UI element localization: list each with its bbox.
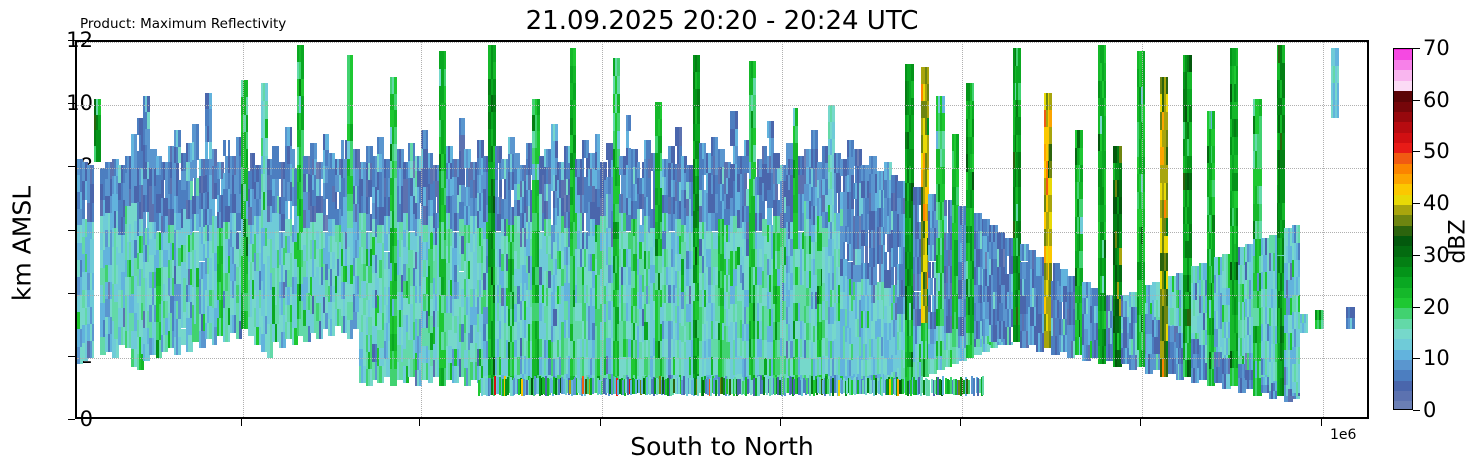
reflectivity-cell <box>265 119 268 137</box>
reflectivity-cell <box>753 128 756 145</box>
reflectivity-cell <box>277 179 280 196</box>
reflectivity-cell <box>350 55 353 72</box>
reflectivity-cell <box>861 246 864 262</box>
reflectivity-cell <box>196 124 199 142</box>
reflectivity-cell <box>660 136 663 153</box>
reflectivity-cell <box>323 199 326 215</box>
reflectivity-cell <box>209 126 212 143</box>
reflectivity-cell <box>426 130 429 149</box>
reflectivity-cell <box>92 165 95 184</box>
reflectivity-cell <box>637 209 640 225</box>
reflectivity-cell <box>843 242 846 259</box>
reflectivity-cell <box>528 175 531 191</box>
reflectivity-cell <box>98 146 101 162</box>
reflectivity-cell <box>290 127 293 145</box>
reflectivity-cell <box>350 107 353 124</box>
reflectivity-cell <box>196 142 199 160</box>
reflectivity-cell <box>859 149 862 166</box>
reflectivity-cell <box>205 142 208 159</box>
reflectivity-cell <box>617 94 620 112</box>
reflectivity-cell <box>697 107 700 124</box>
reflectivity-cell <box>277 146 280 163</box>
reflectivity-cell <box>697 55 700 72</box>
reflectivity-cell <box>319 179 322 196</box>
reflectivity-cell <box>92 203 95 222</box>
reflectivity-cell <box>832 105 835 122</box>
reflectivity-cell <box>176 163 179 179</box>
reflectivity-cell <box>368 197 371 214</box>
reflectivity-cell <box>92 239 95 256</box>
reflectivity-cell <box>697 124 700 141</box>
reflectivity-cell <box>335 192 338 209</box>
reflectivity-cell <box>865 230 868 246</box>
reflectivity-cell <box>433 197 436 213</box>
reflectivity-cell <box>382 137 385 155</box>
reflectivity-cell <box>753 145 756 162</box>
reflectivity-cell <box>350 124 353 141</box>
reflectivity-cell <box>573 135 576 152</box>
reflectivity-cell <box>143 212 146 229</box>
reflectivity-cell <box>493 129 496 146</box>
reflectivity-cell <box>265 138 268 156</box>
reflectivity-cell <box>637 162 640 178</box>
reflectivity-cell <box>493 79 496 96</box>
reflectivity-cell <box>555 124 558 141</box>
reflectivity-cell <box>795 126 798 143</box>
reflectivity-cell <box>301 113 304 130</box>
reflectivity-cell <box>92 222 95 239</box>
reflectivity-cell <box>493 95 496 112</box>
reflectivity-cell <box>444 103 447 120</box>
reflectivity-cell <box>617 58 620 76</box>
reflectivity-cell <box>582 158 585 176</box>
reflectivity-cell <box>394 77 397 94</box>
reflectivity-cell <box>548 201 551 218</box>
reflectivity-cell <box>660 119 663 136</box>
reflectivity-cell <box>350 89 353 106</box>
reflectivity-cell <box>499 180 502 197</box>
reflectivity-cell <box>493 45 496 62</box>
reflectivity-cell <box>697 72 700 89</box>
reflectivity-cell <box>815 130 818 149</box>
reflectivity-cell <box>285 201 288 219</box>
reflectivity-cell <box>493 112 496 129</box>
reflectivity-cell <box>265 101 268 119</box>
reflectivity-cell <box>832 122 835 139</box>
reflectivity-cell <box>537 99 540 115</box>
reflectivity-cell <box>301 96 304 113</box>
reflectivity-cell <box>573 100 576 117</box>
reflectivity-cell <box>771 121 774 138</box>
reflectivity-cell <box>891 267 894 285</box>
reflectivity-cell <box>209 93 212 110</box>
reflectivity-cell <box>495 163 498 180</box>
chart-title: 21.09.2025 20:20 - 20:24 UTC <box>75 6 1369 36</box>
reflectivity-cell <box>92 307 95 324</box>
reflectivity-cell <box>301 79 304 96</box>
reflectivity-cell <box>573 118 576 135</box>
reflectivity-cell <box>246 132 249 149</box>
radar-cross-section-figure: Product: Maximum Reflectivity 21.09.2025… <box>0 0 1482 470</box>
reflectivity-cell <box>246 97 249 114</box>
reflectivity-cell <box>884 252 887 270</box>
reflectivity-cell <box>573 83 576 100</box>
reflectivity-cell <box>82 200 85 219</box>
plot-area <box>75 40 1369 419</box>
reflectivity-cell <box>134 134 137 151</box>
reflectivity-cell <box>147 112 150 129</box>
reflectivity-cell <box>92 273 95 290</box>
reflectivity-cell <box>92 341 95 358</box>
reflectivity-cell <box>744 173 747 189</box>
reflectivity-cell <box>325 134 328 150</box>
reflectivity-cell <box>341 140 344 159</box>
reflectivity-cell <box>753 95 756 112</box>
reflectivity-cell <box>582 213 585 231</box>
reflectivity-cell <box>178 130 181 146</box>
reflectivity-cell <box>444 51 447 68</box>
reflectivity-cell <box>444 86 447 103</box>
reflectivity-cell <box>508 190 511 208</box>
reflectivity-cell <box>555 141 558 158</box>
reflectivity-cell <box>246 115 249 132</box>
reflectivity-cell <box>660 102 663 119</box>
reflectivity-cell <box>417 203 420 219</box>
reflectivity-cell <box>648 178 651 197</box>
reflectivity-cell <box>92 256 95 273</box>
reflectivity-cell <box>147 129 150 146</box>
reflectivity-cell <box>98 130 101 146</box>
reflectivity-cell <box>461 118 464 135</box>
reflectivity-cell <box>617 76 620 94</box>
reflectivity-cell <box>228 140 231 156</box>
reflectivity-cell <box>92 290 95 307</box>
reflectivity-cell <box>735 129 738 146</box>
reflectivity-cell <box>394 127 397 144</box>
reflectivity-cell <box>762 201 765 219</box>
reflectivity-cell <box>673 146 676 163</box>
reflectivity-cell <box>209 109 212 126</box>
reflectivity-cell <box>702 175 705 191</box>
reflectivity-cell <box>865 246 868 262</box>
reflectivity-cell <box>537 115 540 131</box>
reflectivity-cell <box>697 89 700 106</box>
reflectivity-cell <box>617 131 620 149</box>
reflectivity-cell <box>444 120 447 137</box>
reflectivity-cell <box>753 61 756 78</box>
reflectivity-cell <box>597 134 600 152</box>
reflectivity-cell <box>246 149 249 166</box>
reflectivity-cell <box>223 140 226 156</box>
reflectivity-cell <box>394 110 397 127</box>
reflectivity-cell <box>98 115 101 131</box>
reflectivity-cell <box>628 115 631 132</box>
reflectivity-cell <box>92 324 95 341</box>
reflectivity-cell <box>147 96 150 113</box>
reflectivity-cell <box>769 208 772 225</box>
reflectivity-cell <box>753 111 756 128</box>
reflectivity-cell <box>775 184 778 200</box>
reflectivity-cell <box>194 160 197 178</box>
reflectivity-cell <box>795 108 798 125</box>
reflectivity-cell <box>301 62 304 79</box>
reflectivity-cell <box>735 111 738 128</box>
reflectivity-cell <box>98 99 101 115</box>
reflectivity-cell <box>314 143 317 159</box>
reflectivity-cell <box>617 113 620 131</box>
reflectivity-cell <box>834 193 837 213</box>
reflectivity-cell <box>493 62 496 79</box>
reflectivity-cell <box>626 131 629 148</box>
reflectivity-cell <box>573 48 576 65</box>
reflectivity-cell <box>444 69 447 86</box>
reflectivity-cell <box>270 341 273 358</box>
reflectivity-cell <box>350 72 353 89</box>
reflectivity-cell <box>394 94 397 111</box>
reflectivity-cell <box>573 66 576 83</box>
reflectivity-cell <box>679 127 682 145</box>
reflectivity-cell <box>265 83 268 101</box>
reflectivity-cell <box>838 173 841 193</box>
reflectivity-cell <box>301 45 304 62</box>
reflectivity-cell <box>92 184 95 203</box>
reflectivity-data-layer <box>77 42 1367 417</box>
reflectivity-cell <box>301 130 304 147</box>
reflectivity-cell <box>161 180 164 198</box>
reflectivity-cell <box>217 179 220 196</box>
reflectivity-cell <box>753 78 756 95</box>
reflectivity-cell <box>212 199 215 216</box>
reflectivity-cell <box>495 180 498 197</box>
reflectivity-cell <box>537 131 540 147</box>
reflectivity-cell <box>292 149 295 168</box>
reflectivity-cell <box>246 80 249 97</box>
reflectivity-cell <box>461 168 464 185</box>
